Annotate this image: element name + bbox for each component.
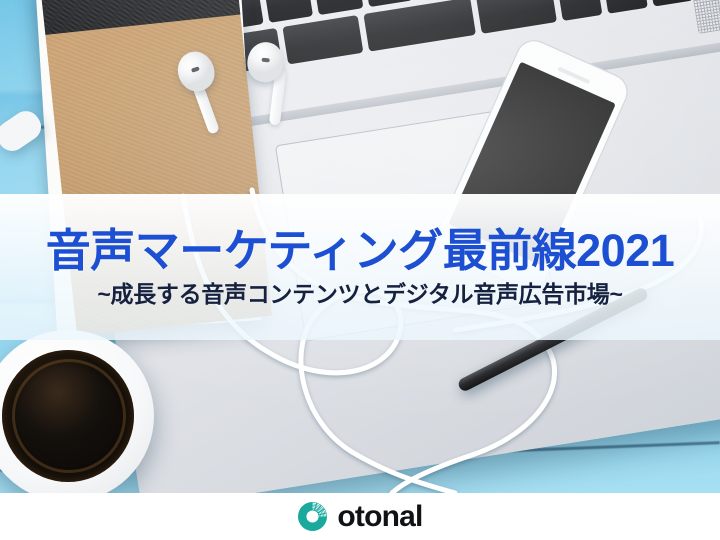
sub-title: ~成長する音声コンテンツとデジタル音声広告市場~	[97, 282, 622, 307]
title-block: 音声マーケティング最前線2021 ~成長する音声コンテンツとデジタル音声広告市場…	[0, 194, 720, 340]
logo-wordmark: otonal	[337, 502, 422, 532]
otonal-soundwave-ring-icon	[297, 501, 328, 532]
footer-logo-bar: otonal	[0, 493, 720, 540]
title-slide: B N M < > ?	[0, 0, 720, 540]
main-title: 音声マーケティング最前線2021	[46, 227, 675, 276]
